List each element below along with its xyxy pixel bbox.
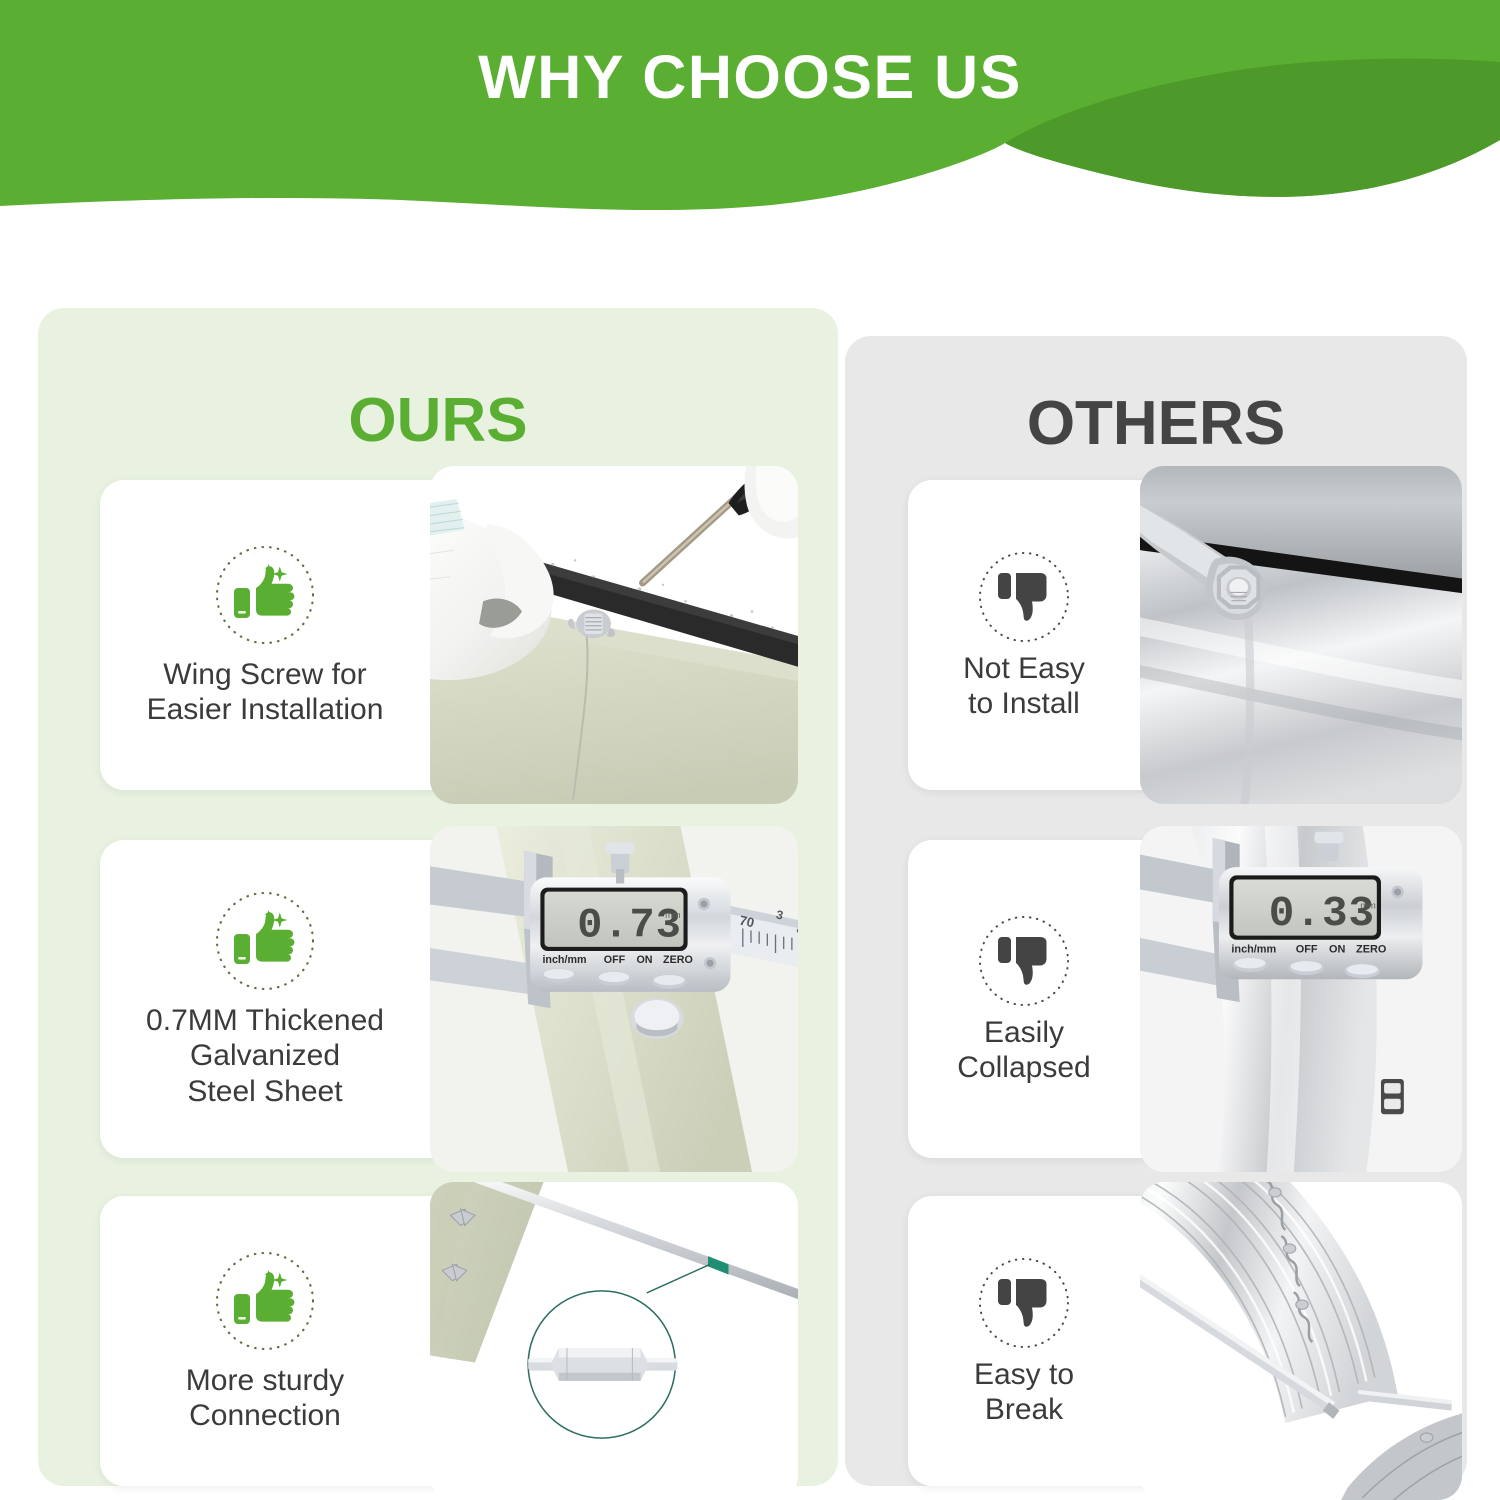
ours-card-1-text: Wing Screw for Easier Installation (100, 480, 430, 790)
ours-card-3-text: More sturdy Connection (100, 1196, 430, 1486)
ours-card-2[interactable]: 0.7MM Thickened Galvanized Steel Sheet (100, 840, 782, 1158)
others-heading: OTHERS (845, 388, 1467, 459)
others-card-1-label: Not Easy to Install (963, 651, 1085, 722)
gloved-hand-installing-wing-screw-photo (430, 466, 798, 804)
svg-text:0.33: 0.33 (1269, 890, 1375, 938)
svg-text:ZERO: ZERO (1356, 943, 1387, 955)
ours-heading: OURS (38, 385, 838, 456)
ours-card-3-label: More sturdy Connection (186, 1363, 344, 1434)
thumbs-down-icon (976, 913, 1072, 1009)
svg-text:ON: ON (1329, 943, 1345, 955)
others-card-2[interactable]: Easily Collapsed (908, 840, 1448, 1158)
others-card-2-text: Easily Collapsed (908, 840, 1140, 1158)
thumbs-up-sparkle-icon (213, 1249, 317, 1353)
svg-text:ZERO: ZERO (663, 954, 693, 966)
page-title: WHY CHOOSE US (0, 42, 1500, 112)
ours-card-2-text: 0.7MM Thickened Galvanized Steel Sheet (100, 840, 430, 1158)
svg-text:mm: mm (665, 910, 681, 920)
svg-text:inch/mm: inch/mm (1231, 943, 1276, 955)
thumbs-up-sparkle-icon (213, 889, 317, 993)
svg-text:inch/mm: inch/mm (542, 954, 586, 966)
others-card-1-text: Not Easy to Install (908, 480, 1140, 790)
svg-text:ON: ON (636, 954, 652, 966)
ours-card-2-label: 0.7MM Thickened Galvanized Steel Sheet (146, 1003, 384, 1109)
svg-text:70: 70 (738, 913, 756, 931)
others-card-2-label: Easily Collapsed (957, 1015, 1090, 1086)
others-card-3[interactable]: Easy to Break (908, 1196, 1448, 1486)
svg-text:mm: mm (1360, 901, 1376, 911)
rod-with-hex-coupling-connector-photo (430, 1182, 798, 1500)
wrench-tightening-hex-nut-photo (1140, 466, 1462, 804)
ours-card-1[interactable]: Wing Screw for Easier Installation (100, 480, 782, 790)
thumbs-down-icon (976, 549, 1072, 645)
svg-text:OFF: OFF (1296, 943, 1318, 955)
svg-text:OFF: OFF (604, 954, 626, 966)
thumbs-down-icon (976, 1255, 1072, 1351)
infographic-root: WHY CHOOSE US OURS OTHERS (0, 0, 1500, 1500)
digital-caliper-measuring-thickness-photo: 0.73 mm inch/mm OFF ON ZERO (430, 826, 798, 1172)
ours-card-1-label: Wing Screw for Easier Installation (147, 657, 384, 728)
others-card-3-label: Easy to Break (974, 1357, 1074, 1428)
ours-card-3[interactable]: More sturdy Connection (100, 1196, 782, 1486)
corrugated-panels-broken-rod-photo (1140, 1182, 1462, 1500)
comparison-panels: OURS OTHERS (0, 0, 1500, 1500)
svg-text:0.73: 0.73 (577, 902, 682, 950)
digital-caliper-thin-sheet-photo: 0.33 mm inch/mm OFF ON ZERO (1140, 826, 1462, 1172)
thumbs-up-sparkle-icon (213, 543, 317, 647)
others-card-1[interactable]: Not Easy to Install (908, 480, 1448, 790)
others-card-3-text: Easy to Break (908, 1196, 1140, 1486)
